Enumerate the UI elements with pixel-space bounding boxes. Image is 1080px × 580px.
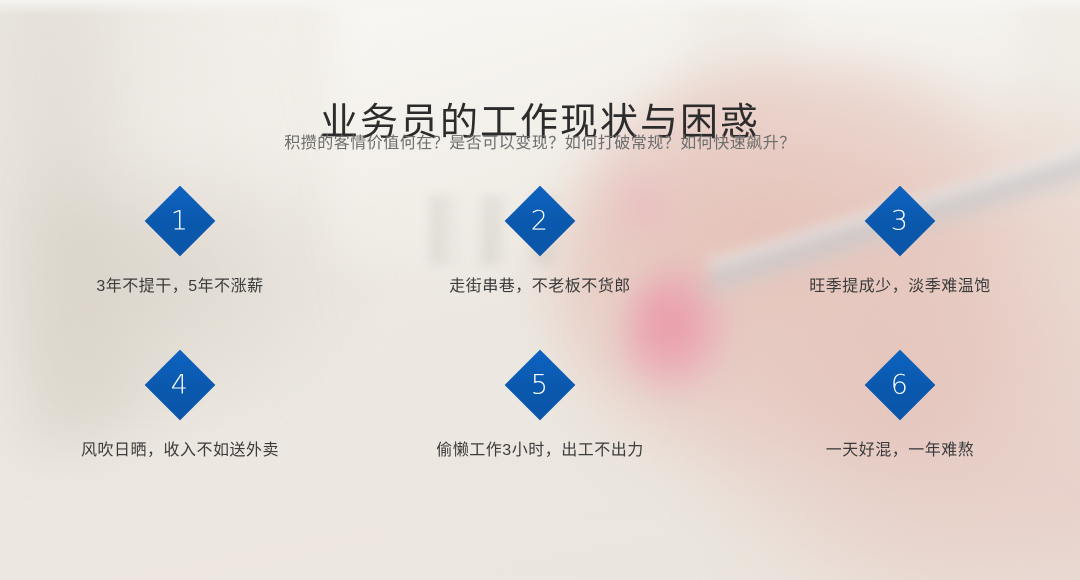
diamond-number-3: 3 bbox=[891, 208, 908, 235]
pain-point-row-1: 1 3年不提干，5年不涨薪 2 走街串巷，不老板不货郎 3 旺季提成少，淡季难温… bbox=[0, 196, 1080, 296]
diamond-number-2: 2 bbox=[531, 208, 548, 235]
pain-point-item-3[interactable]: 3 旺季提成少，淡季难温饱 bbox=[720, 196, 1080, 296]
diamond-badge-5: 5 bbox=[505, 350, 576, 421]
pain-point-label-5: 偷懒工作3小时，出工不出力 bbox=[436, 436, 643, 460]
diamond-badge-1: 1 bbox=[145, 186, 216, 257]
presentation-slide: 业务员的工作现状与困惑 积攒的客情价值何在？是否可以变现？如何打破常规？如何快速… bbox=[0, 0, 1080, 580]
pain-point-row-2: 4 风吹日晒，收入不如送外卖 5 偷懒工作3小时，出工不出力 6 一天好混，一年… bbox=[0, 360, 1080, 460]
page-subtitle: 积攒的客情价值何在？是否可以变现？如何打破常规？如何快速飙升？ bbox=[0, 129, 1080, 153]
diamond-number-6: 6 bbox=[891, 372, 908, 399]
pain-point-item-2[interactable]: 2 走街串巷，不老板不货郎 bbox=[360, 196, 720, 296]
diamond-number-4: 4 bbox=[171, 372, 188, 399]
diamond-number-1: 1 bbox=[171, 208, 188, 235]
pain-point-label-2: 走街串巷，不老板不货郎 bbox=[449, 272, 631, 296]
diamond-badge-3: 3 bbox=[865, 186, 936, 257]
pain-point-label-3: 旺季提成少，淡季难温饱 bbox=[809, 272, 991, 296]
pain-point-grid: 1 3年不提干，5年不涨薪 2 走街串巷，不老板不货郎 3 旺季提成少，淡季难温… bbox=[0, 196, 1080, 460]
pain-point-item-5[interactable]: 5 偷懒工作3小时，出工不出力 bbox=[360, 360, 720, 460]
pain-point-item-4[interactable]: 4 风吹日晒，收入不如送外卖 bbox=[0, 360, 360, 460]
diamond-badge-6: 6 bbox=[865, 350, 936, 421]
pain-point-label-1: 3年不提干，5年不涨薪 bbox=[96, 272, 263, 296]
diamond-number-5: 5 bbox=[531, 372, 548, 399]
slide-content: 业务员的工作现状与困惑 积攒的客情价值何在？是否可以变现？如何打破常规？如何快速… bbox=[0, 0, 1080, 580]
pain-point-label-6: 一天好混，一年难熬 bbox=[826, 436, 975, 460]
pain-point-item-1[interactable]: 1 3年不提干，5年不涨薪 bbox=[0, 196, 360, 296]
pain-point-label-4: 风吹日晒，收入不如送外卖 bbox=[81, 436, 279, 460]
pain-point-item-6[interactable]: 6 一天好混，一年难熬 bbox=[720, 360, 1080, 460]
diamond-badge-2: 2 bbox=[505, 186, 576, 257]
diamond-badge-4: 4 bbox=[145, 350, 216, 421]
